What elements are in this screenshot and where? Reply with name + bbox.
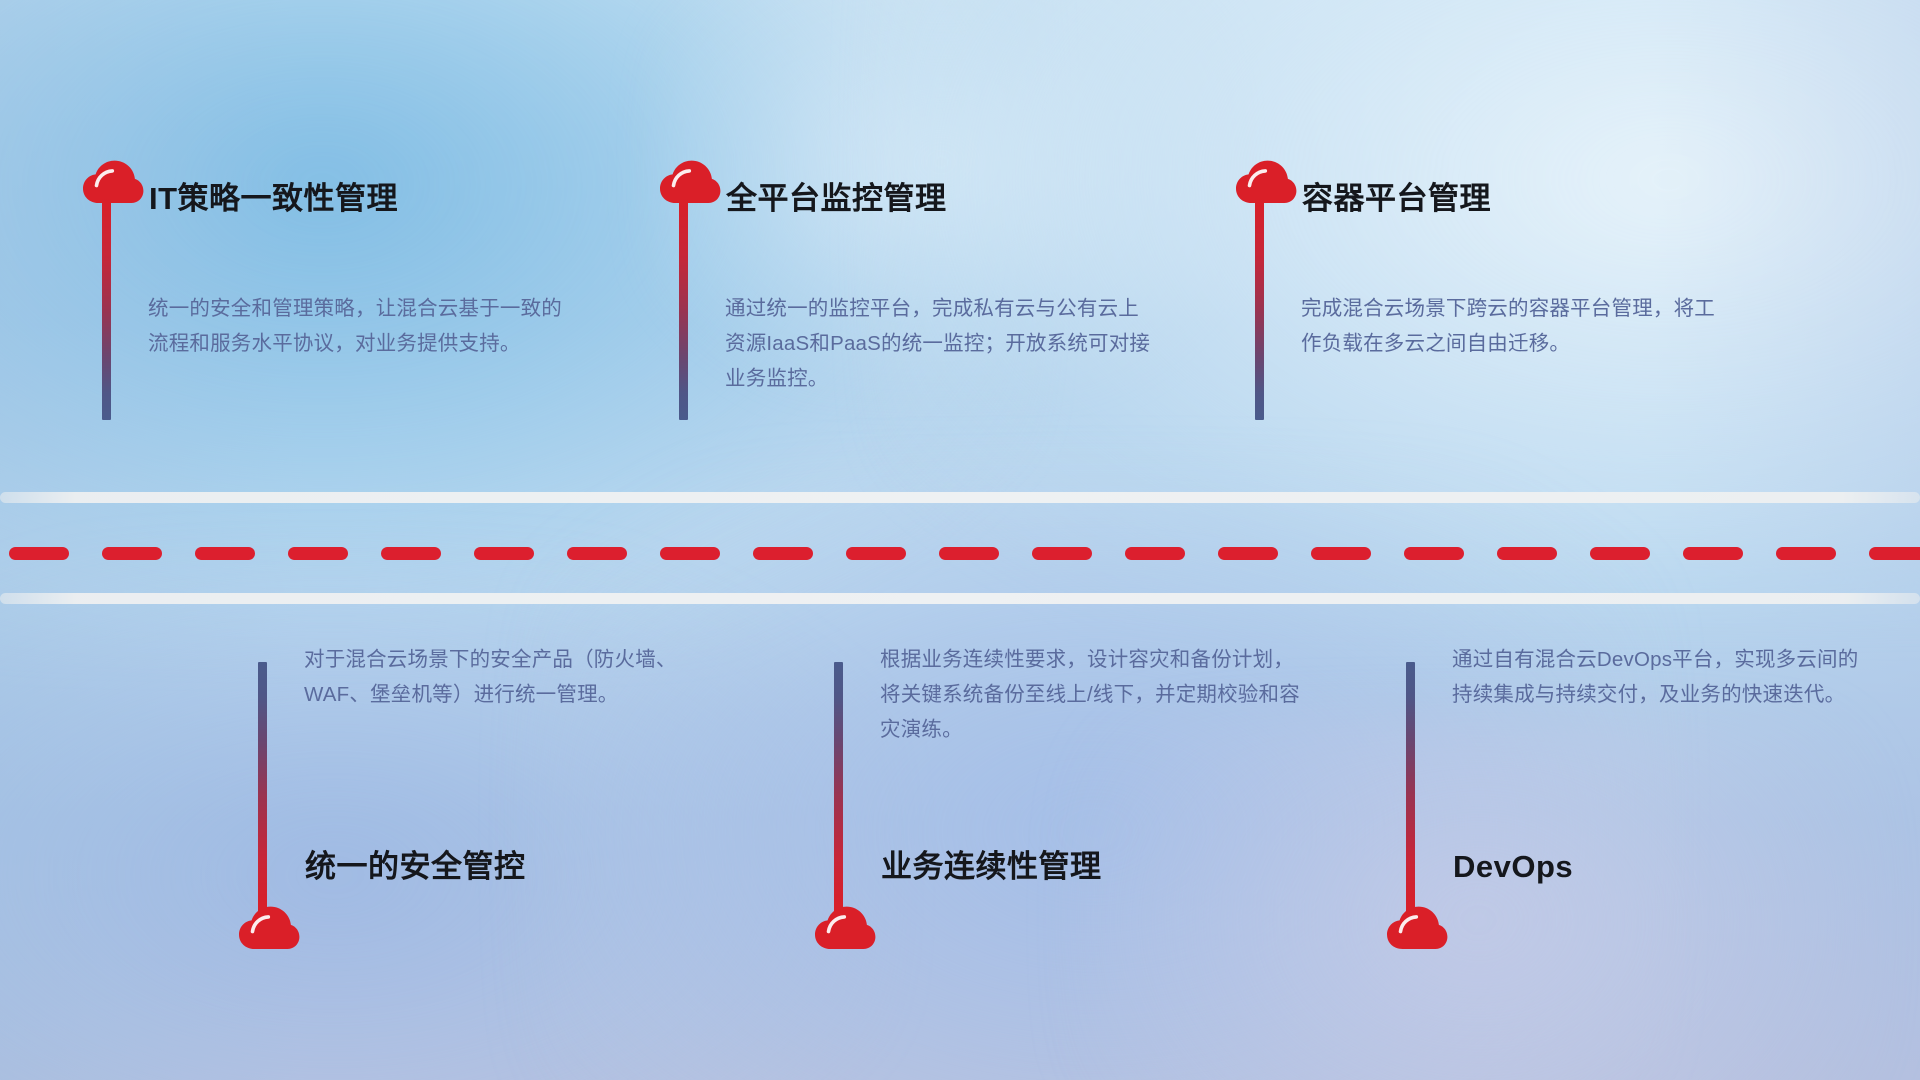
item-title: DevOps bbox=[1453, 848, 1573, 885]
item-title: 业务连续性管理 bbox=[881, 848, 1102, 885]
cloud-icon bbox=[659, 160, 721, 204]
connector-stem bbox=[1406, 662, 1415, 912]
item-description: 完成混合云场景下跨云的容器平台管理，将工作负载在多云之间自由迁移。 bbox=[1301, 291, 1721, 361]
item-description-text: 通过自有混合云DevOps平台，实现多云间的持续集成与持续交付，及业务的快速迭代… bbox=[1452, 642, 1872, 712]
divider-dash bbox=[1590, 547, 1650, 560]
connector-stem bbox=[1255, 198, 1264, 420]
divider-dash bbox=[1497, 547, 1557, 560]
divider-dash bbox=[1311, 547, 1371, 560]
item-title: IT策略一致性管理 bbox=[149, 180, 398, 217]
connector-stem bbox=[258, 662, 267, 912]
divider-dash bbox=[1125, 547, 1185, 560]
infographic-canvas: IT策略一致性管理 统一的安全和管理策略，让混合云基于一致的流程和服务水平协议，… bbox=[0, 0, 1920, 1080]
item-description: 通过统一的监控平台，完成私有云与公有云上资源IaaS和PaaS的统一监控；开放系… bbox=[725, 291, 1155, 396]
item-title: 统一的安全管控 bbox=[305, 848, 526, 885]
divider-dash bbox=[1218, 547, 1278, 560]
divider-dash bbox=[9, 547, 69, 560]
divider-dash bbox=[381, 547, 441, 560]
item-description: 统一的安全和管理策略，让混合云基于一致的流程和服务水平协议，对业务提供支持。 bbox=[148, 291, 568, 361]
divider-dash bbox=[567, 547, 627, 560]
divider-dash bbox=[195, 547, 255, 560]
cloud-icon bbox=[238, 906, 300, 950]
cloud-icon bbox=[82, 160, 144, 204]
item-container-platform[interactable]: 容器平台管理 完成混合云场景下跨云的容器平台管理，将工作负载在多云之间自由迁移。 bbox=[1249, 160, 1719, 420]
connector-stem bbox=[102, 198, 111, 420]
item-description-text: 统一的安全和管理策略，让混合云基于一致的流程和服务水平协议，对业务提供支持。 bbox=[148, 291, 568, 361]
divider-dash bbox=[102, 547, 162, 560]
item-monitoring[interactable]: 全平台监控管理 通过统一的监控平台，完成私有云与公有云上资源IaaS和PaaS的… bbox=[673, 160, 1153, 420]
item-description-text: 对于混合云场景下的安全产品（防火墙、WAF、堡垒机等）进行统一管理。 bbox=[304, 642, 724, 712]
item-unified-security[interactable]: 统一的安全管控 对于混合云场景下的安全产品（防火墙、WAF、堡垒机等）进行统一管… bbox=[252, 630, 722, 950]
divider-dash bbox=[753, 547, 813, 560]
divider-rail-bottom bbox=[0, 593, 1920, 604]
cloud-icon bbox=[1386, 906, 1448, 950]
timeline-divider bbox=[0, 492, 1920, 604]
divider-dash bbox=[474, 547, 534, 560]
divider-dash bbox=[660, 547, 720, 560]
connector-stem bbox=[834, 662, 843, 912]
divider-dash bbox=[288, 547, 348, 560]
item-description-text: 完成混合云场景下跨云的容器平台管理，将工作负载在多云之间自由迁移。 bbox=[1301, 291, 1721, 361]
divider-rail-top bbox=[0, 492, 1920, 503]
divider-dash bbox=[1776, 547, 1836, 560]
item-title: 容器平台管理 bbox=[1302, 180, 1491, 217]
item-devops[interactable]: DevOps 通过自有混合云DevOps平台，实现多云间的持续集成与持续交付，及… bbox=[1400, 630, 1870, 950]
divider-dash bbox=[1032, 547, 1092, 560]
connector-stem bbox=[679, 198, 688, 420]
item-description: 根据业务连续性要求，设计容灾和备份计划，将关键系统备份至线上/线下，并定期校验和… bbox=[880, 642, 1300, 747]
cloud-icon bbox=[814, 906, 876, 950]
divider-dash bbox=[939, 547, 999, 560]
item-description: 通过自有混合云DevOps平台，实现多云间的持续集成与持续交付，及业务的快速迭代… bbox=[1452, 642, 1872, 712]
item-description: 对于混合云场景下的安全产品（防火墙、WAF、堡垒机等）进行统一管理。 bbox=[304, 642, 724, 712]
item-description-text: 通过统一的监控平台，完成私有云与公有云上资源IaaS和PaaS的统一监控；开放系… bbox=[725, 291, 1155, 396]
divider-dash bbox=[846, 547, 906, 560]
item-title: 全平台监控管理 bbox=[726, 180, 947, 217]
cloud-icon bbox=[1235, 160, 1297, 204]
divider-dash bbox=[1404, 547, 1464, 560]
divider-dashed-line bbox=[0, 546, 1920, 560]
divider-dash bbox=[1869, 547, 1920, 560]
item-description-text: 根据业务连续性要求，设计容灾和备份计划，将关键系统备份至线上/线下，并定期校验和… bbox=[880, 642, 1300, 747]
item-it-policy[interactable]: IT策略一致性管理 统一的安全和管理策略，让混合云基于一致的流程和服务水平协议，… bbox=[96, 160, 566, 420]
divider-dash bbox=[1683, 547, 1743, 560]
item-business-continuity[interactable]: 业务连续性管理 根据业务连续性要求，设计容灾和备份计划，将关键系统备份至线上/线… bbox=[828, 630, 1298, 950]
